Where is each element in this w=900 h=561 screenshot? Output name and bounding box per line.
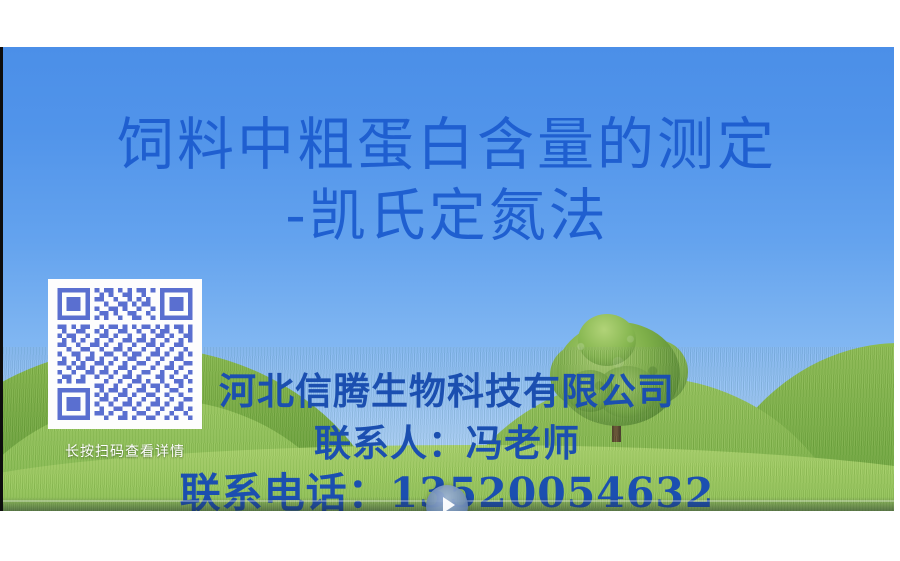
video-frame-left-border [0,47,3,511]
title-line-primary: 饲料中粗蛋白含量的测定 [0,109,894,181]
page-bottom-area [0,511,900,561]
slide-title: 饲料中粗蛋白含量的测定 -凯氏定氮法 [0,109,894,251]
video-player[interactable]: 饲料中粗蛋白含量的测定 -凯氏定氮法 河北信腾生物科技有限公司 联系人：冯老师 … [0,47,894,511]
qr-caption: 长按扫码查看详情 [48,441,202,461]
qr-code-block[interactable]: 长按扫码查看详情 [48,279,202,461]
title-line-secondary: -凯氏定氮法 [0,181,894,251]
tree-canopy-top [578,314,636,366]
player-control-bar[interactable] [0,497,894,511]
play-icon [443,497,455,511]
page-root: 饲料中粗蛋白含量的测定 -凯氏定氮法 河北信腾生物科技有限公司 联系人：冯老师 … [0,0,900,561]
qr-code-image[interactable] [48,279,202,429]
